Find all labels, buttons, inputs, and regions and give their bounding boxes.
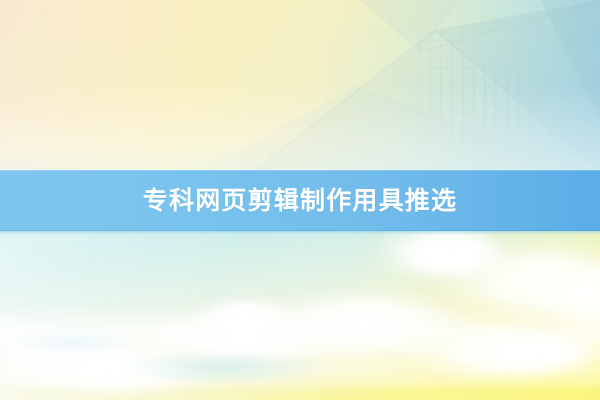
band-underglow: [0, 231, 600, 236]
header-bottom-fade: [0, 0, 600, 172]
page-title: 专科网页剪辑制作用具推选: [143, 188, 457, 213]
title-band: 专科网页剪辑制作用具推选: [0, 170, 600, 231]
sky-haze-band-lower: [0, 351, 600, 391]
banner-image: 专科网页剪辑制作用具推选: [0, 0, 600, 400]
sky-with-clouds: [0, 231, 600, 400]
abstract-geometric-header: [0, 0, 600, 172]
